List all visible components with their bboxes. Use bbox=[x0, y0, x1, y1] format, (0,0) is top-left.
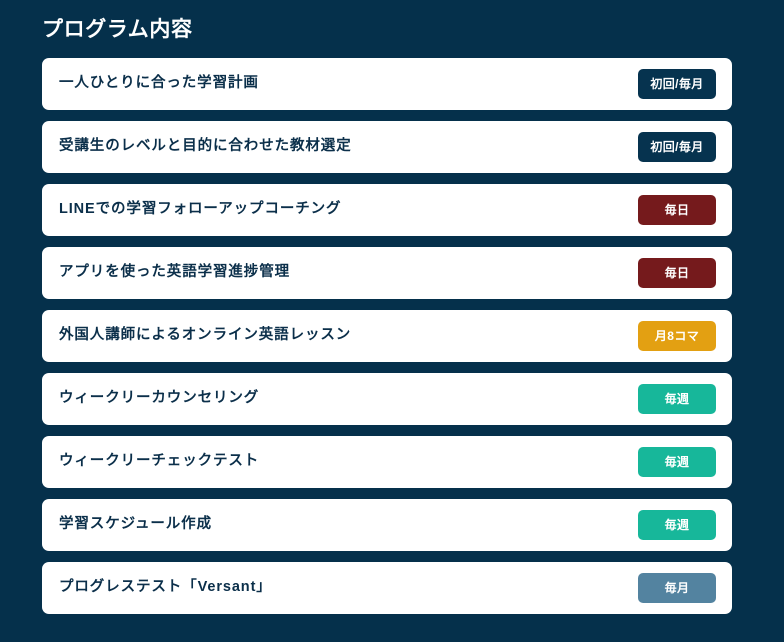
program-label: ウィークリーカウンセリング bbox=[59, 390, 259, 407]
program-content-panel: プログラム内容 一人ひとりに合った学習計画 初回/毎月 受講生のレベルと目的に合… bbox=[0, 0, 784, 642]
program-label: 外国人講師によるオンライン英語レッスン bbox=[59, 327, 351, 344]
list-item[interactable]: プログレステスト「Versant」 毎月 bbox=[42, 562, 732, 614]
list-item[interactable]: 受講生のレベルと目的に合わせた教材選定 初回/毎月 bbox=[42, 121, 732, 173]
frequency-badge: 初回/毎月 bbox=[638, 132, 716, 162]
frequency-badge: 毎週 bbox=[638, 447, 716, 477]
page-title: プログラム内容 bbox=[42, 0, 732, 58]
frequency-badge: 初回/毎月 bbox=[638, 69, 716, 99]
list-item[interactable]: ウィークリーカウンセリング 毎週 bbox=[42, 373, 732, 425]
list-item[interactable]: ウィークリーチェックテスト 毎週 bbox=[42, 436, 732, 488]
program-label: ウィークリーチェックテスト bbox=[59, 453, 259, 470]
list-item[interactable]: 学習スケジュール作成 毎週 bbox=[42, 499, 732, 551]
program-label: 学習スケジュール作成 bbox=[59, 516, 212, 533]
frequency-badge: 毎日 bbox=[638, 258, 716, 288]
program-label: アプリを使った英語学習進捗管理 bbox=[59, 264, 290, 281]
list-item[interactable]: 外国人講師によるオンライン英語レッスン 月8コマ bbox=[42, 310, 732, 362]
list-item[interactable]: 一人ひとりに合った学習計画 初回/毎月 bbox=[42, 58, 732, 110]
frequency-badge: 毎週 bbox=[638, 384, 716, 414]
program-label: 受講生のレベルと目的に合わせた教材選定 bbox=[59, 138, 352, 155]
list-item[interactable]: アプリを使った英語学習進捗管理 毎日 bbox=[42, 247, 732, 299]
program-label: LINEでの学習フォローアップコーチング bbox=[59, 201, 341, 218]
list-item[interactable]: LINEでの学習フォローアップコーチング 毎日 bbox=[42, 184, 732, 236]
frequency-badge: 毎週 bbox=[638, 510, 716, 540]
program-label: プログレステスト「Versant」 bbox=[59, 579, 272, 596]
frequency-badge: 月8コマ bbox=[638, 321, 716, 351]
frequency-badge: 毎月 bbox=[638, 573, 716, 603]
program-label: 一人ひとりに合った学習計画 bbox=[59, 75, 259, 92]
program-list: 一人ひとりに合った学習計画 初回/毎月 受講生のレベルと目的に合わせた教材選定 … bbox=[42, 58, 732, 614]
frequency-badge: 毎日 bbox=[638, 195, 716, 225]
